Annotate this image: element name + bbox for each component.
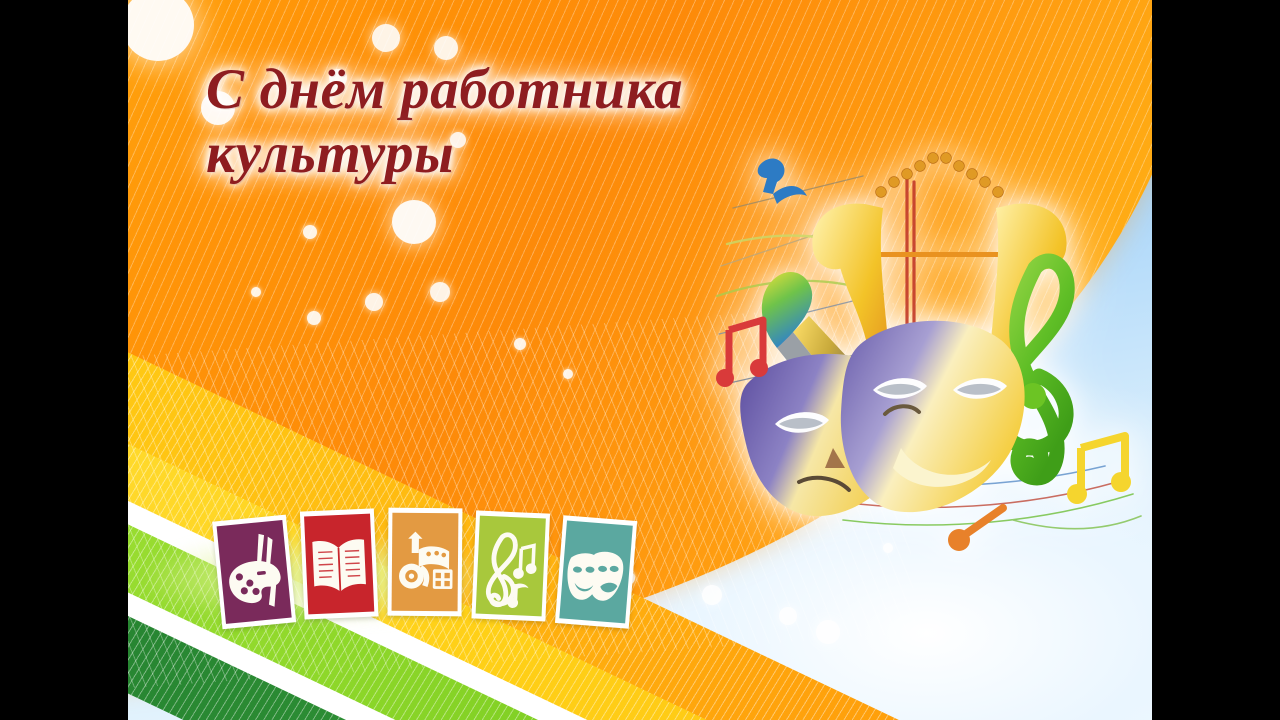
theater-masks-icon [559, 521, 632, 624]
artwork-canvas: С днём работника культуры [128, 0, 1152, 720]
music-note-yellow [1067, 436, 1131, 504]
letterbox-bar-right [1152, 0, 1280, 720]
bokeh-circle [392, 200, 436, 244]
bokeh-circle [430, 282, 450, 302]
lyre-masks-illustration [713, 148, 1143, 548]
culture-card-cinema[interactable] [388, 508, 463, 617]
letterbox-bar-left [0, 0, 128, 720]
music-note-orange [948, 508, 1003, 551]
culture-card-strip [216, 506, 676, 646]
bokeh-circle [816, 620, 840, 644]
bokeh-circle [303, 225, 317, 239]
title-line-1: С днём работника [206, 58, 683, 121]
bokeh-circle [365, 293, 383, 311]
culture-card-painting[interactable] [212, 515, 296, 630]
bokeh-circle [514, 338, 526, 350]
film-reel-icon [392, 513, 459, 612]
culture-card-theatre[interactable] [555, 515, 637, 628]
bokeh-circle [702, 585, 722, 605]
open-book-icon [304, 514, 374, 615]
culture-card-music[interactable] [471, 510, 550, 621]
culture-card-literature[interactable] [300, 508, 379, 619]
bokeh-circle [563, 369, 573, 379]
bokeh-circle [434, 36, 458, 60]
bokeh-circle [251, 287, 261, 297]
music-note-blue [758, 159, 807, 204]
treble-clef-icon [476, 516, 546, 617]
bokeh-circle [372, 24, 400, 52]
palette-icon [217, 520, 292, 624]
greeting-card-image: С днём работника культуры [0, 0, 1280, 720]
bokeh-circle [307, 311, 321, 325]
bokeh-circle [779, 607, 797, 625]
